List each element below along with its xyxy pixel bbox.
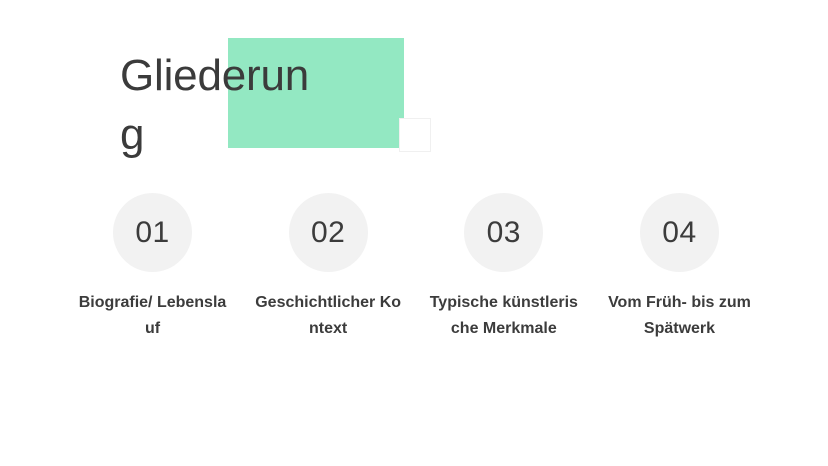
step-number-02: 02	[311, 218, 345, 248]
step-label-03: Typische künstlerische Merkmale	[429, 290, 579, 343]
step-circle-01: 01	[113, 193, 192, 272]
step-number-03: 03	[487, 218, 521, 248]
agenda-step-02[interactable]: 02 Geschichtlicher Kontext	[242, 193, 415, 343]
step-number-04: 04	[662, 218, 696, 248]
agenda-step-04[interactable]: 04 Vom Früh- bis zum Spätwerk	[593, 193, 766, 343]
agenda-step-03[interactable]: 03 Typische künstlerische Merkmale	[417, 193, 590, 343]
step-circle-02: 02	[289, 193, 368, 272]
step-label-04: Vom Früh- bis zum Spätwerk	[604, 290, 754, 343]
step-label-01: Biografie/ Lebenslauf	[78, 290, 228, 343]
title-area: Gliederung	[0, 0, 828, 180]
page-title: Gliederung	[120, 46, 320, 165]
step-label-02: Geschichtlicher Kontext	[253, 290, 403, 343]
agenda-steps-list: 01 Biografie/ Lebenslauf 02 Geschichtlic…	[66, 193, 766, 343]
agenda-step-01[interactable]: 01 Biografie/ Lebenslauf	[66, 193, 239, 343]
step-circle-03: 03	[464, 193, 543, 272]
step-circle-04: 04	[640, 193, 719, 272]
step-number-01: 01	[135, 218, 169, 248]
presentation-slide: Gliederung 01 Biografie/ Lebenslauf 02 G…	[0, 0, 828, 466]
white-outline-square-icon	[399, 118, 431, 152]
